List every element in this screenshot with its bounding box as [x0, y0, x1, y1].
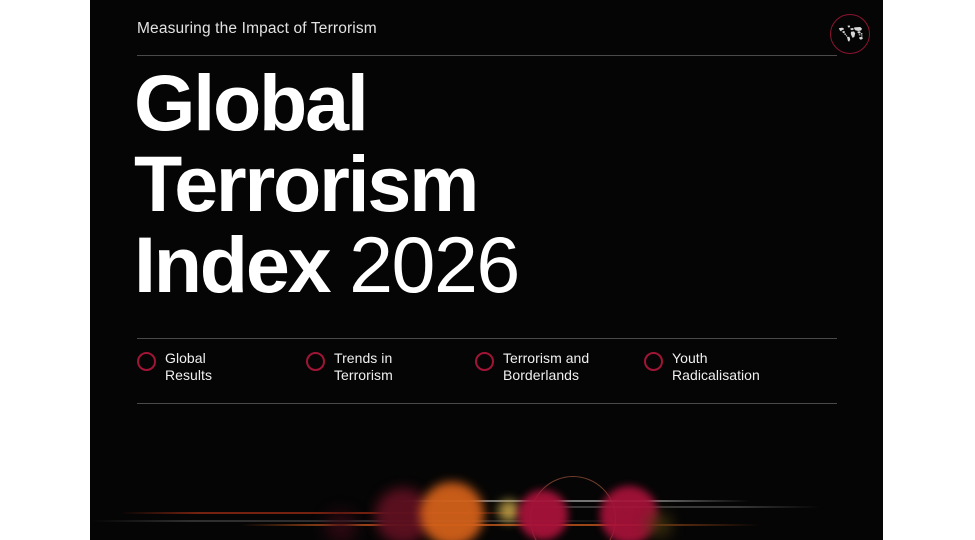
abstract-data-visual-footer — [90, 420, 883, 540]
nav-label-line1: Trends in — [334, 350, 392, 366]
nav-label-line1: Terrorism and — [503, 350, 589, 366]
graphic-line — [240, 524, 760, 526]
title-line-3: Index 2026 — [134, 224, 854, 305]
ring-bullet-icon — [644, 352, 663, 371]
graphic-blob — [420, 482, 484, 540]
divider-bottom — [137, 403, 837, 404]
title-line-1: Global — [134, 62, 854, 143]
cover-subtitle: Measuring the Impact of Terrorism — [137, 20, 377, 38]
nav-label-line2: Radicalisation — [672, 367, 760, 384]
graphic-blob — [326, 512, 356, 540]
nav-item-terrorism-and-borderlands[interactable]: Terrorism andBorderlands — [475, 350, 644, 398]
graphic-blob — [518, 490, 568, 540]
nav-label-line2: Borderlands — [503, 367, 589, 384]
nav-label-line2: Results — [165, 367, 212, 384]
nav-item-label: GlobalResults — [165, 350, 212, 383]
graphic-blob — [646, 512, 672, 538]
world-map-globe-logo — [830, 14, 874, 58]
graphic-blob — [498, 500, 520, 522]
nav-item-trends-in-terrorism[interactable]: Trends inTerrorism — [306, 350, 475, 398]
ring-bullet-icon — [475, 352, 494, 371]
ring-bullet-icon — [306, 352, 325, 371]
world-map-icon — [837, 24, 864, 44]
divider-middle — [137, 338, 837, 339]
nav-label-line1: Youth — [672, 350, 708, 366]
cover-header: Measuring the Impact of Terrorism — [137, 18, 837, 58]
nav-item-label: Trends inTerrorism — [334, 350, 393, 383]
page-title: Global Terrorism Index 2026 — [134, 62, 854, 305]
title-line-2: Terrorism — [134, 143, 854, 224]
nav-item-label: YouthRadicalisation — [672, 350, 760, 383]
nav-label-line1: Global — [165, 350, 206, 366]
chapter-nav: GlobalResults Trends inTerrorism Terrori… — [137, 350, 837, 398]
divider-top — [137, 55, 837, 56]
nav-label-line2: Terrorism — [334, 367, 393, 384]
ring-bullet-icon — [137, 352, 156, 371]
report-cover: Measuring the Impact of Terrorism — [90, 0, 883, 540]
nav-item-global-results[interactable]: GlobalResults — [137, 350, 306, 398]
title-word-index: Index — [134, 220, 329, 309]
nav-item-youth-radicalisation[interactable]: YouthRadicalisation — [644, 350, 813, 398]
page-canvas: Measuring the Impact of Terrorism — [0, 0, 975, 540]
title-year: 2026 — [349, 220, 519, 309]
nav-item-label: Terrorism andBorderlands — [503, 350, 589, 383]
